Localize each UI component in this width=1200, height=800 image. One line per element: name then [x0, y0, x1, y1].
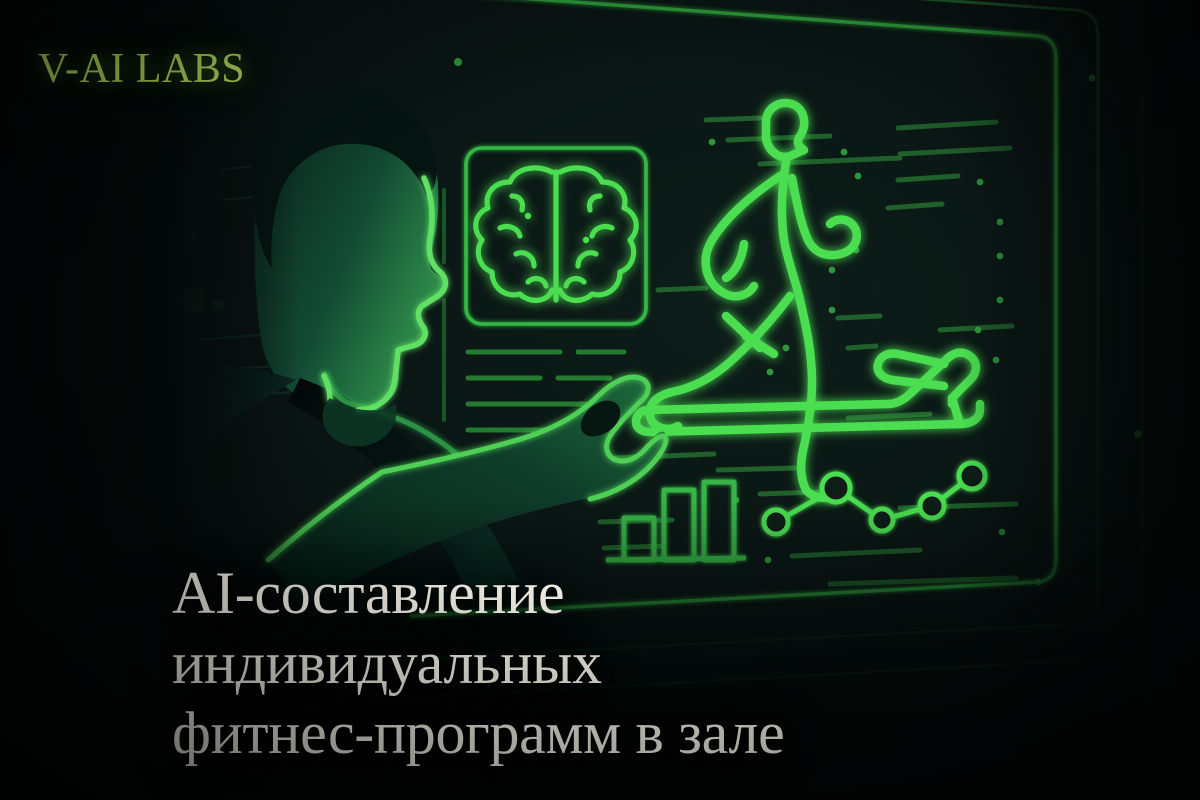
title-line-1: AI-составление: [172, 558, 1172, 628]
page-title: AI-составление индивидуальных фитнес-про…: [172, 558, 1172, 768]
poster-canvas: V-AI LABS AI-составление индивидуальных …: [0, 0, 1200, 800]
title-line-3: фитнес-программ в зале: [172, 698, 1172, 768]
brand-logo: V-AI LABS: [38, 48, 245, 90]
title-line-2: индивидуальных: [172, 628, 1172, 698]
